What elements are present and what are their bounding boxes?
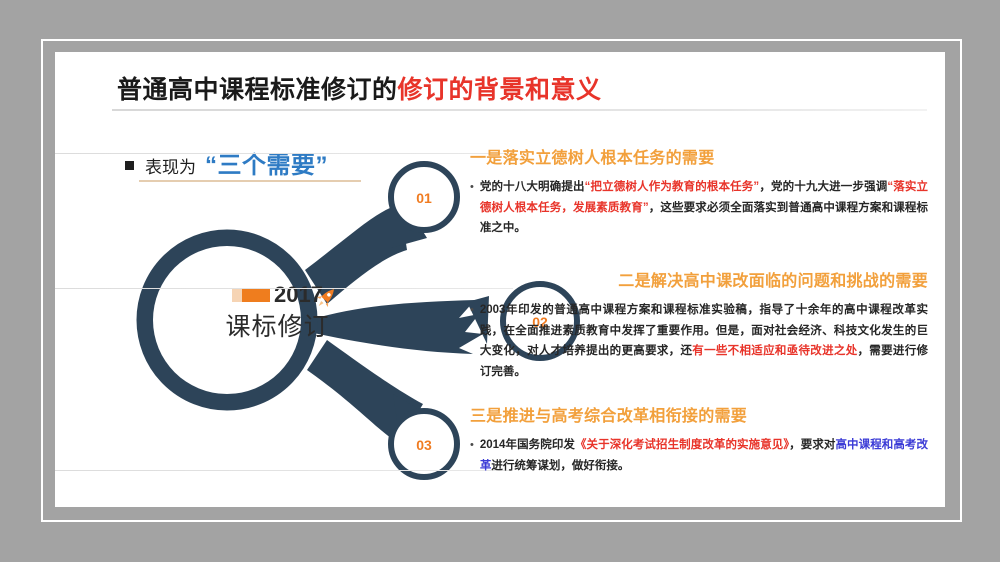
bullet-icon: • bbox=[470, 300, 480, 382]
block-2-divider bbox=[55, 288, 513, 289]
caption-divider bbox=[139, 180, 361, 182]
page-title-main: 普通高中课程标准修订的 bbox=[117, 76, 398, 104]
node-01-tail bbox=[391, 212, 427, 248]
node-01-number: 01 bbox=[404, 190, 444, 206]
block-3-divider bbox=[55, 470, 513, 471]
slide-canvas: 普通高中课程标准修订的修订的背景和意义 表现为 “三个需要” bbox=[55, 52, 945, 507]
slide-viewer: 普通高中课程标准修订的修订的背景和意义 表现为 “三个需要” bbox=[0, 0, 1000, 562]
bullet-icon: • bbox=[470, 177, 480, 239]
node-03-number: 03 bbox=[404, 437, 444, 453]
block-1-text: 党的十八大明确提出“把立德树人作为教育的根本任务”，党的十九大进一步强调“落实立… bbox=[480, 177, 928, 239]
block-2-body: • 2003年印发的普通高中课程方案和课程标准实验稿，指导了十余年的高中课程改革… bbox=[470, 300, 928, 382]
bullet-icon: • bbox=[470, 435, 480, 476]
orange-bar-icon bbox=[232, 288, 270, 302]
block-1-divider bbox=[55, 153, 513, 154]
content-block-2: 二是解决高中课改面临的问题和挑战的需要 • 2003年印发的普通高中课程方案和课… bbox=[470, 267, 928, 382]
caption: 表现为 “三个需要” bbox=[125, 145, 328, 180]
content-block-3: 三是推进与高考综合改革相衔接的需要 • 2014年国务院印发《关于深化考试招生制… bbox=[470, 402, 928, 476]
center-label: 课标修订 bbox=[205, 307, 350, 343]
block-3-text: 2014年国务院印发《关于深化考试招生制度改革的实施意见》，要求对高中课程和高考… bbox=[480, 435, 928, 476]
node-03-tail bbox=[393, 394, 417, 434]
block-3-body: • 2014年国务院印发《关于深化考试招生制度改革的实施意见》，要求对高中课程和… bbox=[470, 435, 928, 476]
block-3-heading: 三是推进与高考综合改革相衔接的需要 bbox=[470, 402, 928, 426]
caption-highlight: “三个需要” bbox=[205, 145, 328, 180]
block-1-heading: 一是落实立德树人根本任务的需要 bbox=[470, 144, 928, 168]
block-1-body: • 党的十八大明确提出“把立德树人作为教育的根本任务”，党的十九大进一步强调“落… bbox=[470, 177, 928, 239]
content-block-1: 一是落实立德树人根本任务的需要 • 党的十八大明确提出“把立德树人作为教育的根本… bbox=[470, 144, 928, 239]
block-2-heading: 二是解决高中课改面临的问题和挑战的需要 bbox=[470, 267, 928, 291]
caption-lead: 表现为 bbox=[145, 153, 196, 178]
page-title: 普通高中课程标准修订的修订的背景和意义 bbox=[117, 70, 602, 106]
title-divider bbox=[112, 109, 927, 111]
page-title-accent: 修订的背景和意义 bbox=[398, 76, 602, 104]
square-bullet-icon bbox=[125, 161, 134, 170]
branch-connector-03 bbox=[307, 340, 423, 444]
block-2-text: 2003年印发的普通高中课程方案和课程标准实验稿，指导了十余年的高中课程改革实践… bbox=[480, 300, 928, 382]
